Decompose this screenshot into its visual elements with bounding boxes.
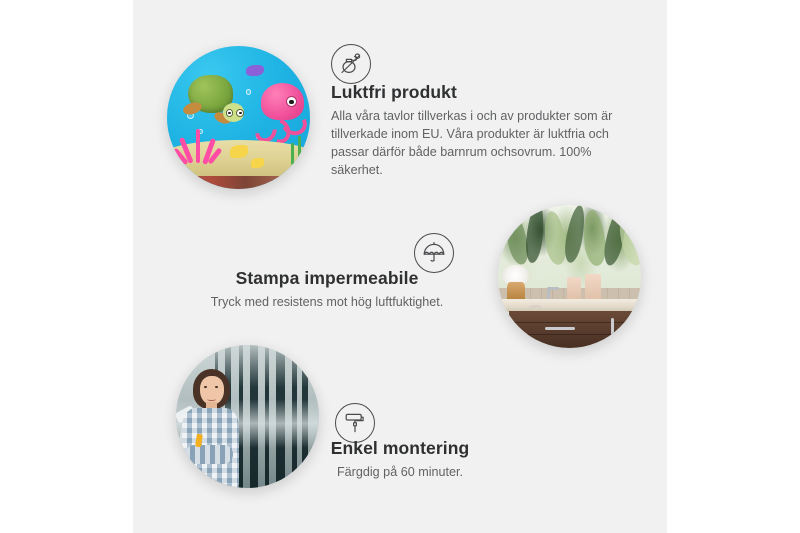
face [200,376,224,405]
feature-title: Luktfri produkt [331,82,617,104]
feature-text-easy-install: Enkel montering Färgdig på 60 minuter. [258,438,542,482]
vanity-cabinet [509,311,641,348]
paint-roller-icon [335,403,375,443]
umbrella-icon [414,233,454,273]
feature-text-odourless: Luktfri produkt Alla våra tavlor tillver… [331,82,617,179]
bathroom-scene [498,205,641,348]
feature-image-waterproof [498,205,641,348]
coral-decor [180,129,214,163]
feature-title: Enkel montering [258,438,542,460]
feature-body: Färgdig på 60 minuter. [258,464,542,482]
no-odour-spray-icon [331,44,371,84]
underwater-scene [167,46,310,189]
feature-text-waterproof: Stampa impermeabile Tryck med resistens … [175,268,479,312]
feature-image-odourless [167,46,310,189]
feature-title: Stampa impermeabile [175,268,479,290]
feature-body: Tryck med resistens mot hög luftfuktighe… [175,294,479,312]
feature-body: Alla våra tavlor tillverkas i och av pro… [331,108,617,180]
screenshot-root: Luktfri produkt Alla våra tavlor tillver… [0,0,800,533]
